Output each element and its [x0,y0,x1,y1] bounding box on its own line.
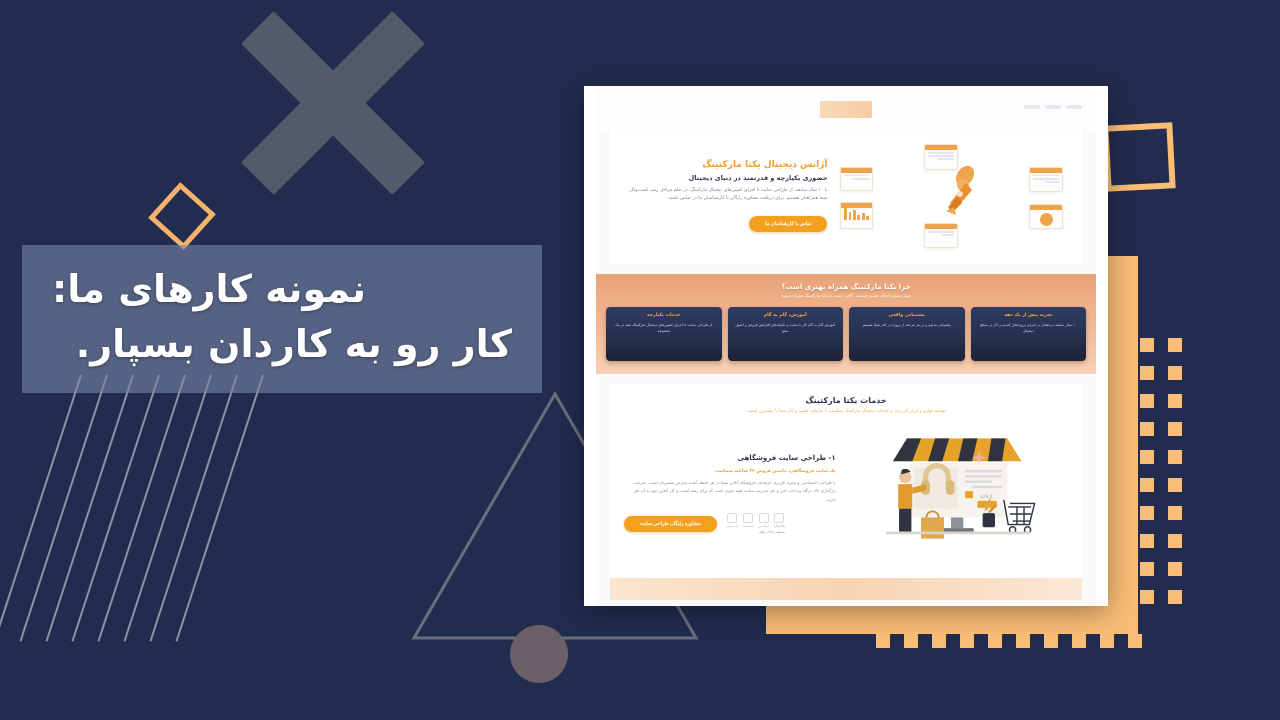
hero-body-text: با ۱۰ سال سابقه، از طراحی سایت تا اجرای … [624,187,827,204]
band-card-title: خدمات یکپارچه [611,313,717,318]
online-shop-illustration-icon: $29.0 [846,426,1068,558]
dot-grid-right-decoration [1140,338,1182,604]
band-card[interactable]: تجربه بیش از یک دهه ۱۰ سال سابقه درخشان … [971,307,1087,361]
mini-card-left-top [840,167,873,191]
site-nav[interactable] [1024,105,1082,109]
band-card-body: از طراحی سایت تا اجرای کمپین‌های دیجیتال… [611,322,717,335]
service-heading: ۱- طراحی سایت فروشگاهی [624,454,836,462]
service-illustration: $29.0 [846,426,1068,562]
diamond-outline-icon [148,182,216,250]
mini-card-right-top [1029,167,1063,192]
band-card-body: پشتیبانی مداوم و در هر مرحله از پروژه در… [854,322,960,328]
hero-subtitle: حضوری یکپارچه و قدرتمند در دنیای دیجیتال [624,174,827,182]
secure-gateway-icon [759,513,769,523]
why-us-band: چرا یکتا مارکتینگ همراه بهتری است؟ مهم ن… [596,274,1096,374]
square-outline-icon [1102,122,1175,192]
service-spec-icons: واکنش‌گرا درگاه امن سئو شده پنل مدیریت [726,513,785,528]
service-actions: مشاوره رایگان طراحی سایت واکنش‌گرا درگاه… [624,513,836,534]
services-title: خدمات یکتا مارکتینگ [624,396,1068,405]
site-header [596,88,1096,130]
service-cta-button[interactable]: مشاوره رایگان طراحی سایت [624,516,717,532]
slide-caption: نمونه کارهای ما: کار رو به کاردان بسپار. [22,245,542,393]
seo-icon [743,513,753,523]
site-logo-icon[interactable] [820,101,872,118]
svg-text:$29.0: $29.0 [980,494,993,500]
band-card-body: آموزش گام به گام کار با سایت و تکنیک‌های… [733,322,839,335]
admin-panel-icon [727,513,737,523]
spec-item: درگاه امن [758,513,769,528]
hero-rocket-illustration [835,144,1068,248]
band-subtitle: مهم نیست کجای مسیر هستید، کافی است با یک… [606,294,1086,299]
circle-shape-icon [510,625,568,683]
hero-cta-button[interactable]: تماس با کارشناسان ما [749,216,827,232]
caption-line-1: نمونه کارهای ما: [52,262,366,317]
spec-item: پنل مدیریت [726,513,738,528]
hero-section: آژانس دیجیتال یکتا مارکتینگ حضوری یکپارچ… [610,130,1082,264]
responsive-icon [774,513,784,523]
service-body: با طراحی اختصاصی و تجربه کاربری حرفه‌ای،… [624,479,836,504]
hero-copy: آژانس دیجیتال یکتا مارکتینگ حضوری یکپارچ… [624,160,827,233]
dot-grid-bottom-decoration [876,634,1142,648]
band-card-title: پشتیبانی واقعی [854,313,960,318]
band-card-body: ۱۰ سال سابقه درخشان در اجرای پروژه‌های ک… [976,322,1082,335]
band-card[interactable]: پشتیبانی واقعی پشتیبانی مداوم و در هر مر… [849,307,965,361]
band-card-list: تجربه بیش از یک دهه ۱۰ سال سابقه درخشان … [606,307,1086,361]
spec-item: سئو شده [743,513,753,528]
caption-line-2: کار رو به کاردان بسپار. [76,317,512,372]
website-mockup[interactable]: آژانس دیجیتال یکتا مارکتینگ حضوری یکپارچ… [596,88,1096,604]
diagonal-lines-decoration [80,385,320,645]
band-card-title: تجربه بیش از یک دهه [976,313,1082,318]
section-divider-strip [610,578,1082,600]
services-subtitle: توسعه لوازم و ابزار کاربردی و خدمات دیجی… [624,409,1068,414]
band-title: چرا یکتا مارکتینگ همراه بهتری است؟ [606,283,1086,291]
service-item-1: ۱- طراحی سایت فروشگاهی یک سایت فروشگاهی،… [624,426,1068,562]
band-card-title: آموزش، گام به گام [733,313,839,318]
service-lead: یک سایت فروشگاهی، ماشین فروش ۲۴ ساعته شم… [624,469,836,474]
mini-card-globe [1029,204,1063,229]
rocket-icon [938,163,984,219]
service-copy: ۱- طراحی سایت فروشگاهی یک سایت فروشگاهی،… [624,454,836,534]
band-card[interactable]: خدمات یکپارچه از طراحی سایت تا اجرای کمپ… [606,307,722,361]
band-card[interactable]: آموزش، گام به گام آموزش گام به گام کار ب… [728,307,844,361]
slide-canvas: نمونه کارهای ما: کار رو به کاردان بسپار.… [0,0,1280,720]
mini-card-chart [840,202,873,229]
spec-item: واکنش‌گرا [774,513,785,528]
services-section: خدمات یکتا مارکتینگ توسعه لوازم و ابزار … [610,384,1082,578]
mini-card-bottom [924,223,958,248]
support-badge: پشتیبانی ۲۴/۷ رایگان [726,530,785,534]
cross-shape-icon [226,8,440,198]
hero-title: آژانس دیجیتال یکتا مارکتینگ [624,160,827,170]
